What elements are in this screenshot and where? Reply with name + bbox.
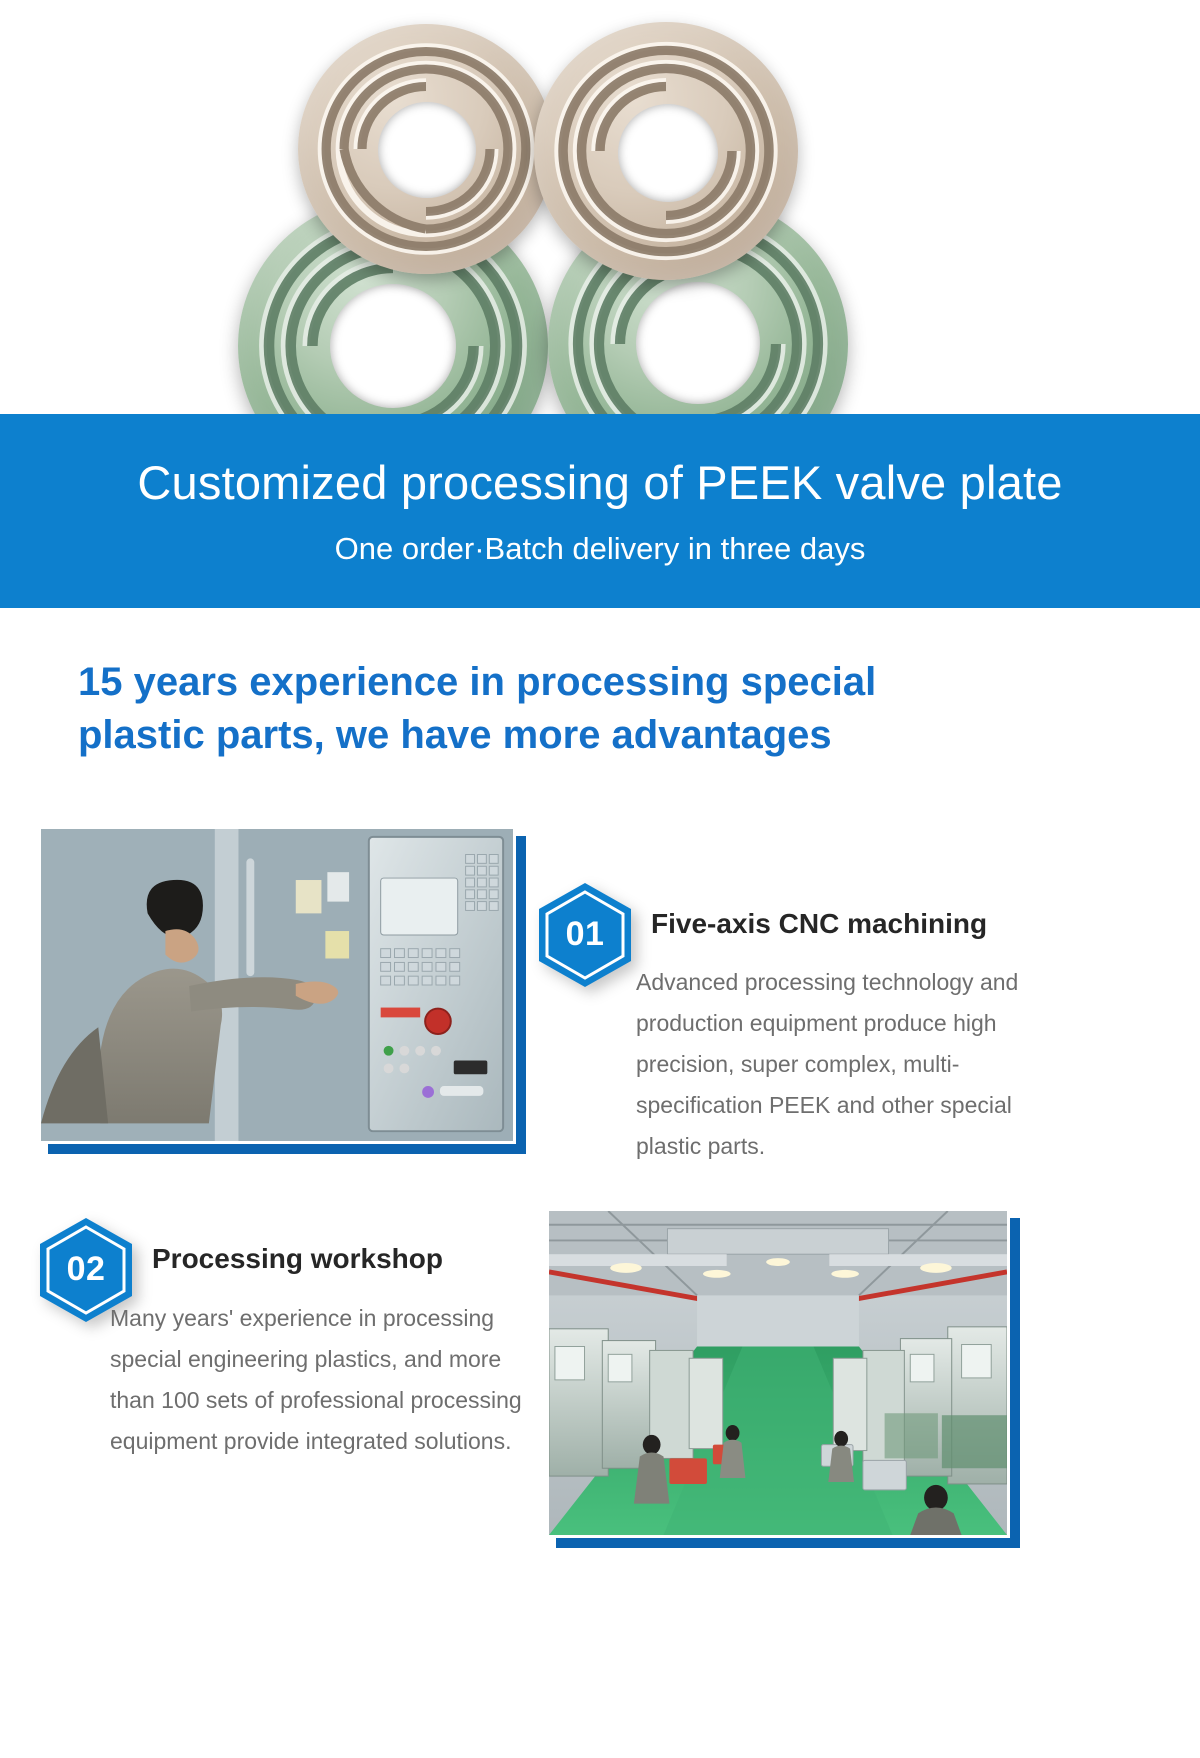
banner-title: Customized processing of PEEK valve plat…	[137, 457, 1062, 509]
valve-plate-metal-left	[298, 24, 554, 274]
valve-plate-center-hole	[618, 104, 718, 202]
valve-plate-center-hole	[330, 284, 456, 408]
cnc-machine-scene	[41, 829, 513, 1141]
valve-plate-center-hole	[378, 102, 476, 198]
section-heading: 15 years experience in processing specia…	[78, 656, 1088, 762]
feature-01-badge: 01	[537, 881, 633, 989]
product-detail-page: Customized processing of PEEK valve plat…	[0, 0, 1200, 1758]
valve-plate-metal-right	[534, 22, 798, 280]
hero-valve-plate-photo	[0, 0, 1200, 470]
valve-plate-center-hole	[636, 282, 760, 404]
workshop-scene	[549, 1211, 1007, 1535]
feature-01-photo	[38, 826, 516, 1144]
feature-01-image	[38, 826, 516, 1144]
feature-02-photo	[546, 1208, 1010, 1538]
feature-02-image	[546, 1208, 1010, 1538]
banner-subtitle: One order·Batch delivery in three days	[335, 531, 866, 567]
feature-02-title: Processing workshop	[152, 1243, 443, 1275]
feature-01-body: Advanced processing technology and produ…	[636, 962, 1072, 1167]
section-heading-line2: plastic parts, we have more advantages	[78, 709, 1088, 762]
feature-01-number: 01	[537, 881, 633, 989]
feature-01-title: Five-axis CNC machining	[651, 908, 987, 940]
feature-02-body: Many years' experience in processing spe…	[110, 1298, 522, 1462]
hero-banner: Customized processing of PEEK valve plat…	[0, 414, 1200, 608]
section-heading-line1: 15 years experience in processing specia…	[78, 656, 1088, 709]
